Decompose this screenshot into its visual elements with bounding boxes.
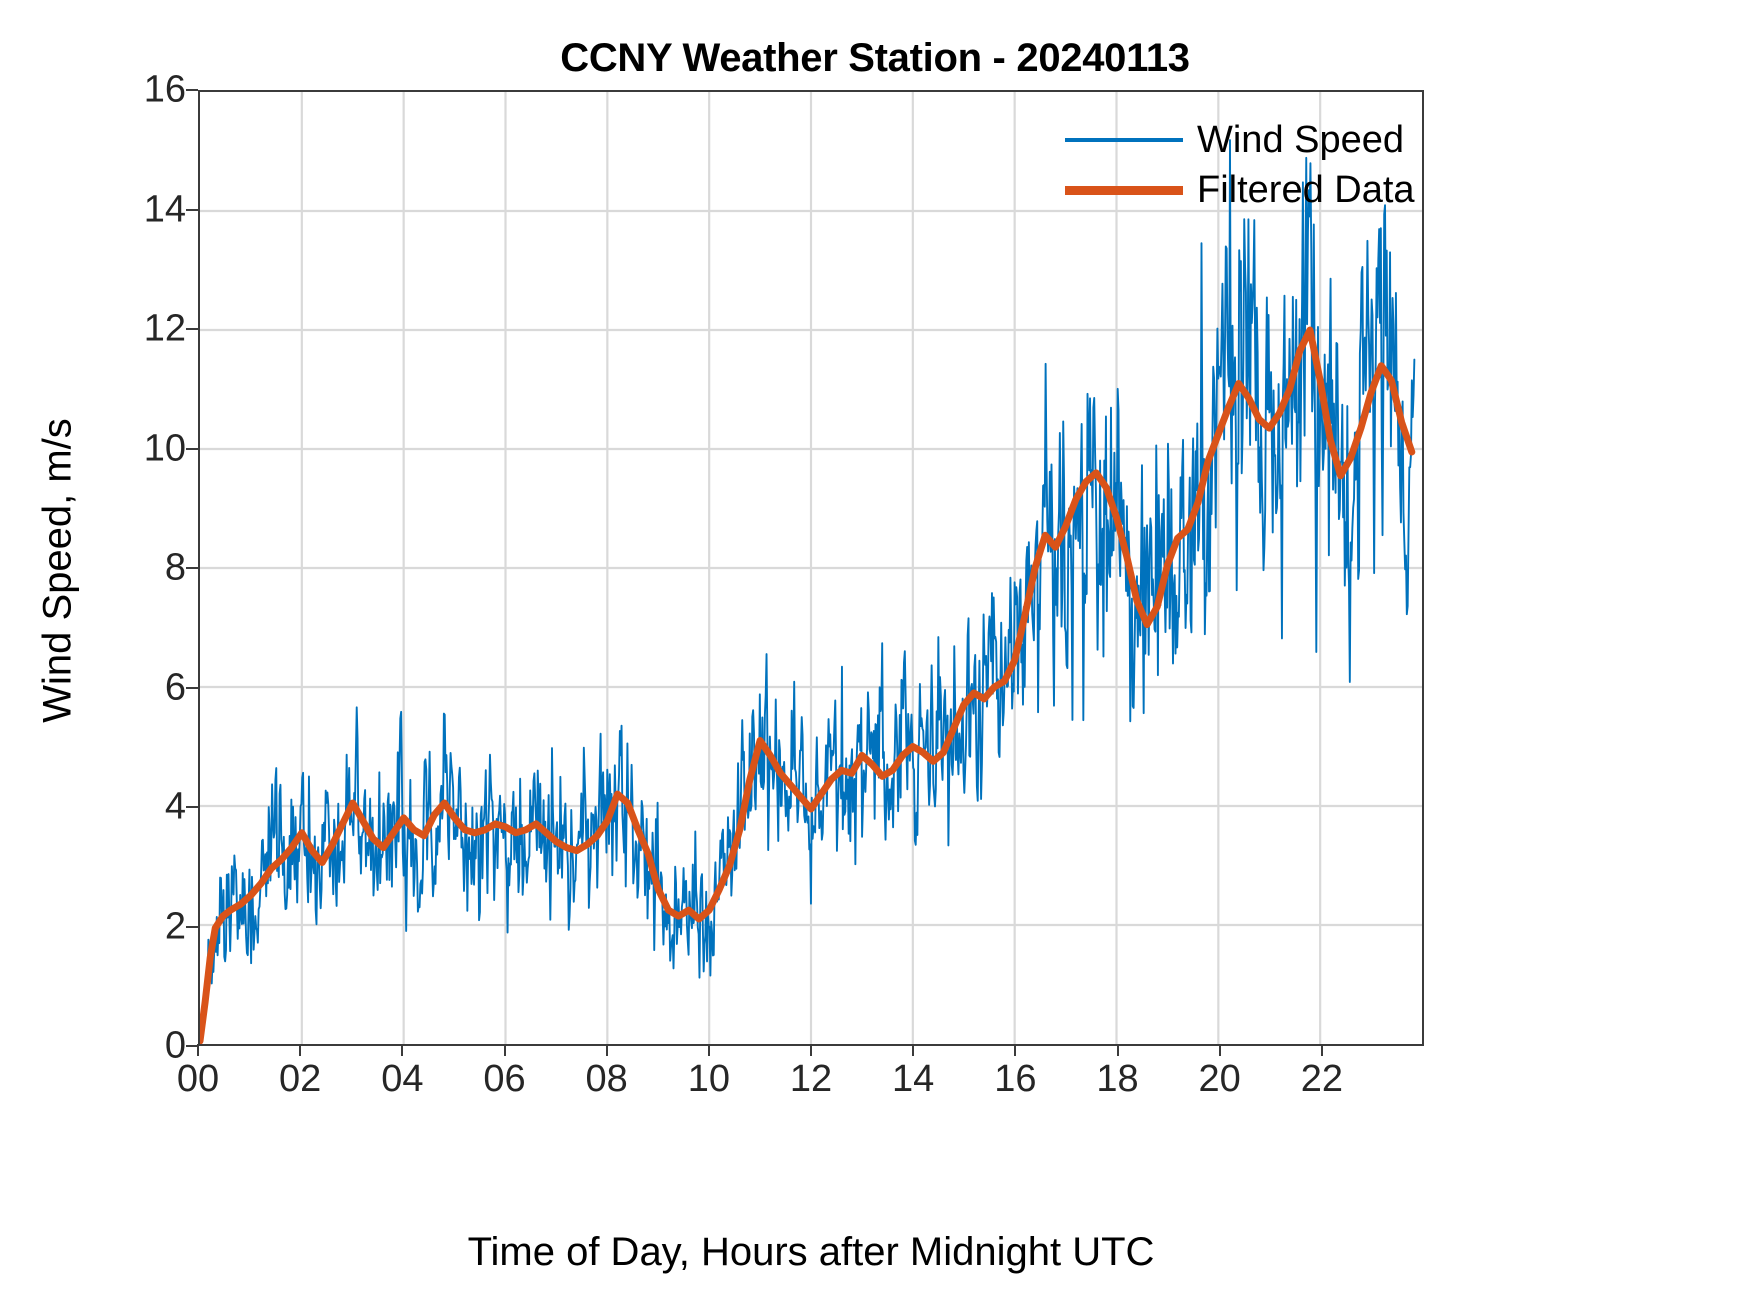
y-axis-tick-label: 8 <box>116 547 186 590</box>
x-axis-tick-mark <box>810 1044 812 1056</box>
legend-color-swatch <box>1065 138 1183 142</box>
y-axis-tick-mark <box>186 328 198 330</box>
x-axis-tick-mark <box>1014 1044 1016 1056</box>
y-axis-title: Wind Speed, m/s <box>36 93 81 1049</box>
x-axis-tick-mark <box>708 1044 710 1056</box>
y-axis-tick-mark <box>186 209 198 211</box>
y-axis-tick-mark <box>186 89 198 91</box>
x-axis-title: Time of Day, Hours after Midnight UTC <box>198 1230 1424 1275</box>
y-axis-tick-label: 10 <box>116 427 186 470</box>
x-axis-tick-label: 02 <box>279 1058 321 1101</box>
y-axis-tick-mark <box>186 567 198 569</box>
y-axis-tick-label: 0 <box>116 1025 186 1068</box>
x-axis-tick-label: 14 <box>892 1058 934 1101</box>
x-axis-tick-label: 08 <box>586 1058 628 1101</box>
x-axis-tick-mark <box>299 1044 301 1056</box>
x-axis-tick-mark <box>912 1044 914 1056</box>
y-axis-tick-label: 16 <box>116 69 186 112</box>
y-axis-tick-mark <box>186 806 198 808</box>
series-layer <box>200 92 1422 1044</box>
legend-color-swatch <box>1065 186 1183 195</box>
x-axis-tick-mark <box>1117 1044 1119 1056</box>
chart-title: CCNY Weather Station - 20240113 <box>0 36 1750 81</box>
x-axis-tick-label: 06 <box>483 1058 525 1101</box>
x-axis-tick-label: 16 <box>994 1058 1036 1101</box>
y-axis-tick-label: 6 <box>116 666 186 709</box>
chart-figure: CCNY Weather Station - 20240113 02468101… <box>0 0 1750 1313</box>
x-axis-tick-mark <box>197 1044 199 1056</box>
plot-area <box>198 90 1424 1046</box>
y-axis-tick-label: 2 <box>116 905 186 948</box>
y-axis-tick-mark <box>186 687 198 689</box>
x-axis-tick-mark <box>401 1044 403 1056</box>
y-axis-tick-labels: 0246810121416 <box>108 90 186 1046</box>
x-axis-tick-label: 12 <box>790 1058 832 1101</box>
x-axis-tick-label: 22 <box>1301 1058 1343 1101</box>
x-axis-tick-label: 00 <box>177 1058 219 1101</box>
x-axis-tick-labels: 000204060810121416182022 <box>198 1058 1424 1108</box>
x-axis-tick-mark <box>1321 1044 1323 1056</box>
y-axis-tick-mark <box>186 926 198 928</box>
x-axis-tick-mark <box>606 1044 608 1056</box>
y-axis-tick-mark <box>186 448 198 450</box>
x-axis-tick-mark <box>504 1044 506 1056</box>
x-axis-tick-label: 18 <box>1096 1058 1138 1101</box>
x-axis-tick-label: 20 <box>1199 1058 1241 1101</box>
x-axis-tick-label: 10 <box>688 1058 730 1101</box>
y-axis-tick-label: 14 <box>116 188 186 231</box>
x-axis-tick-mark <box>1219 1044 1221 1056</box>
y-axis-tick-label: 12 <box>116 308 186 351</box>
x-axis-tick-label: 04 <box>381 1058 423 1101</box>
legend-label: Filtered Data <box>1197 169 1415 212</box>
legend-item[interactable]: Wind Speed <box>1065 118 1404 162</box>
legend-label: Wind Speed <box>1197 119 1404 162</box>
legend-item[interactable]: Filtered Data <box>1065 168 1415 212</box>
y-axis-tick-label: 4 <box>116 786 186 829</box>
chart-legend: Wind SpeedFiltered Data <box>1065 118 1415 214</box>
